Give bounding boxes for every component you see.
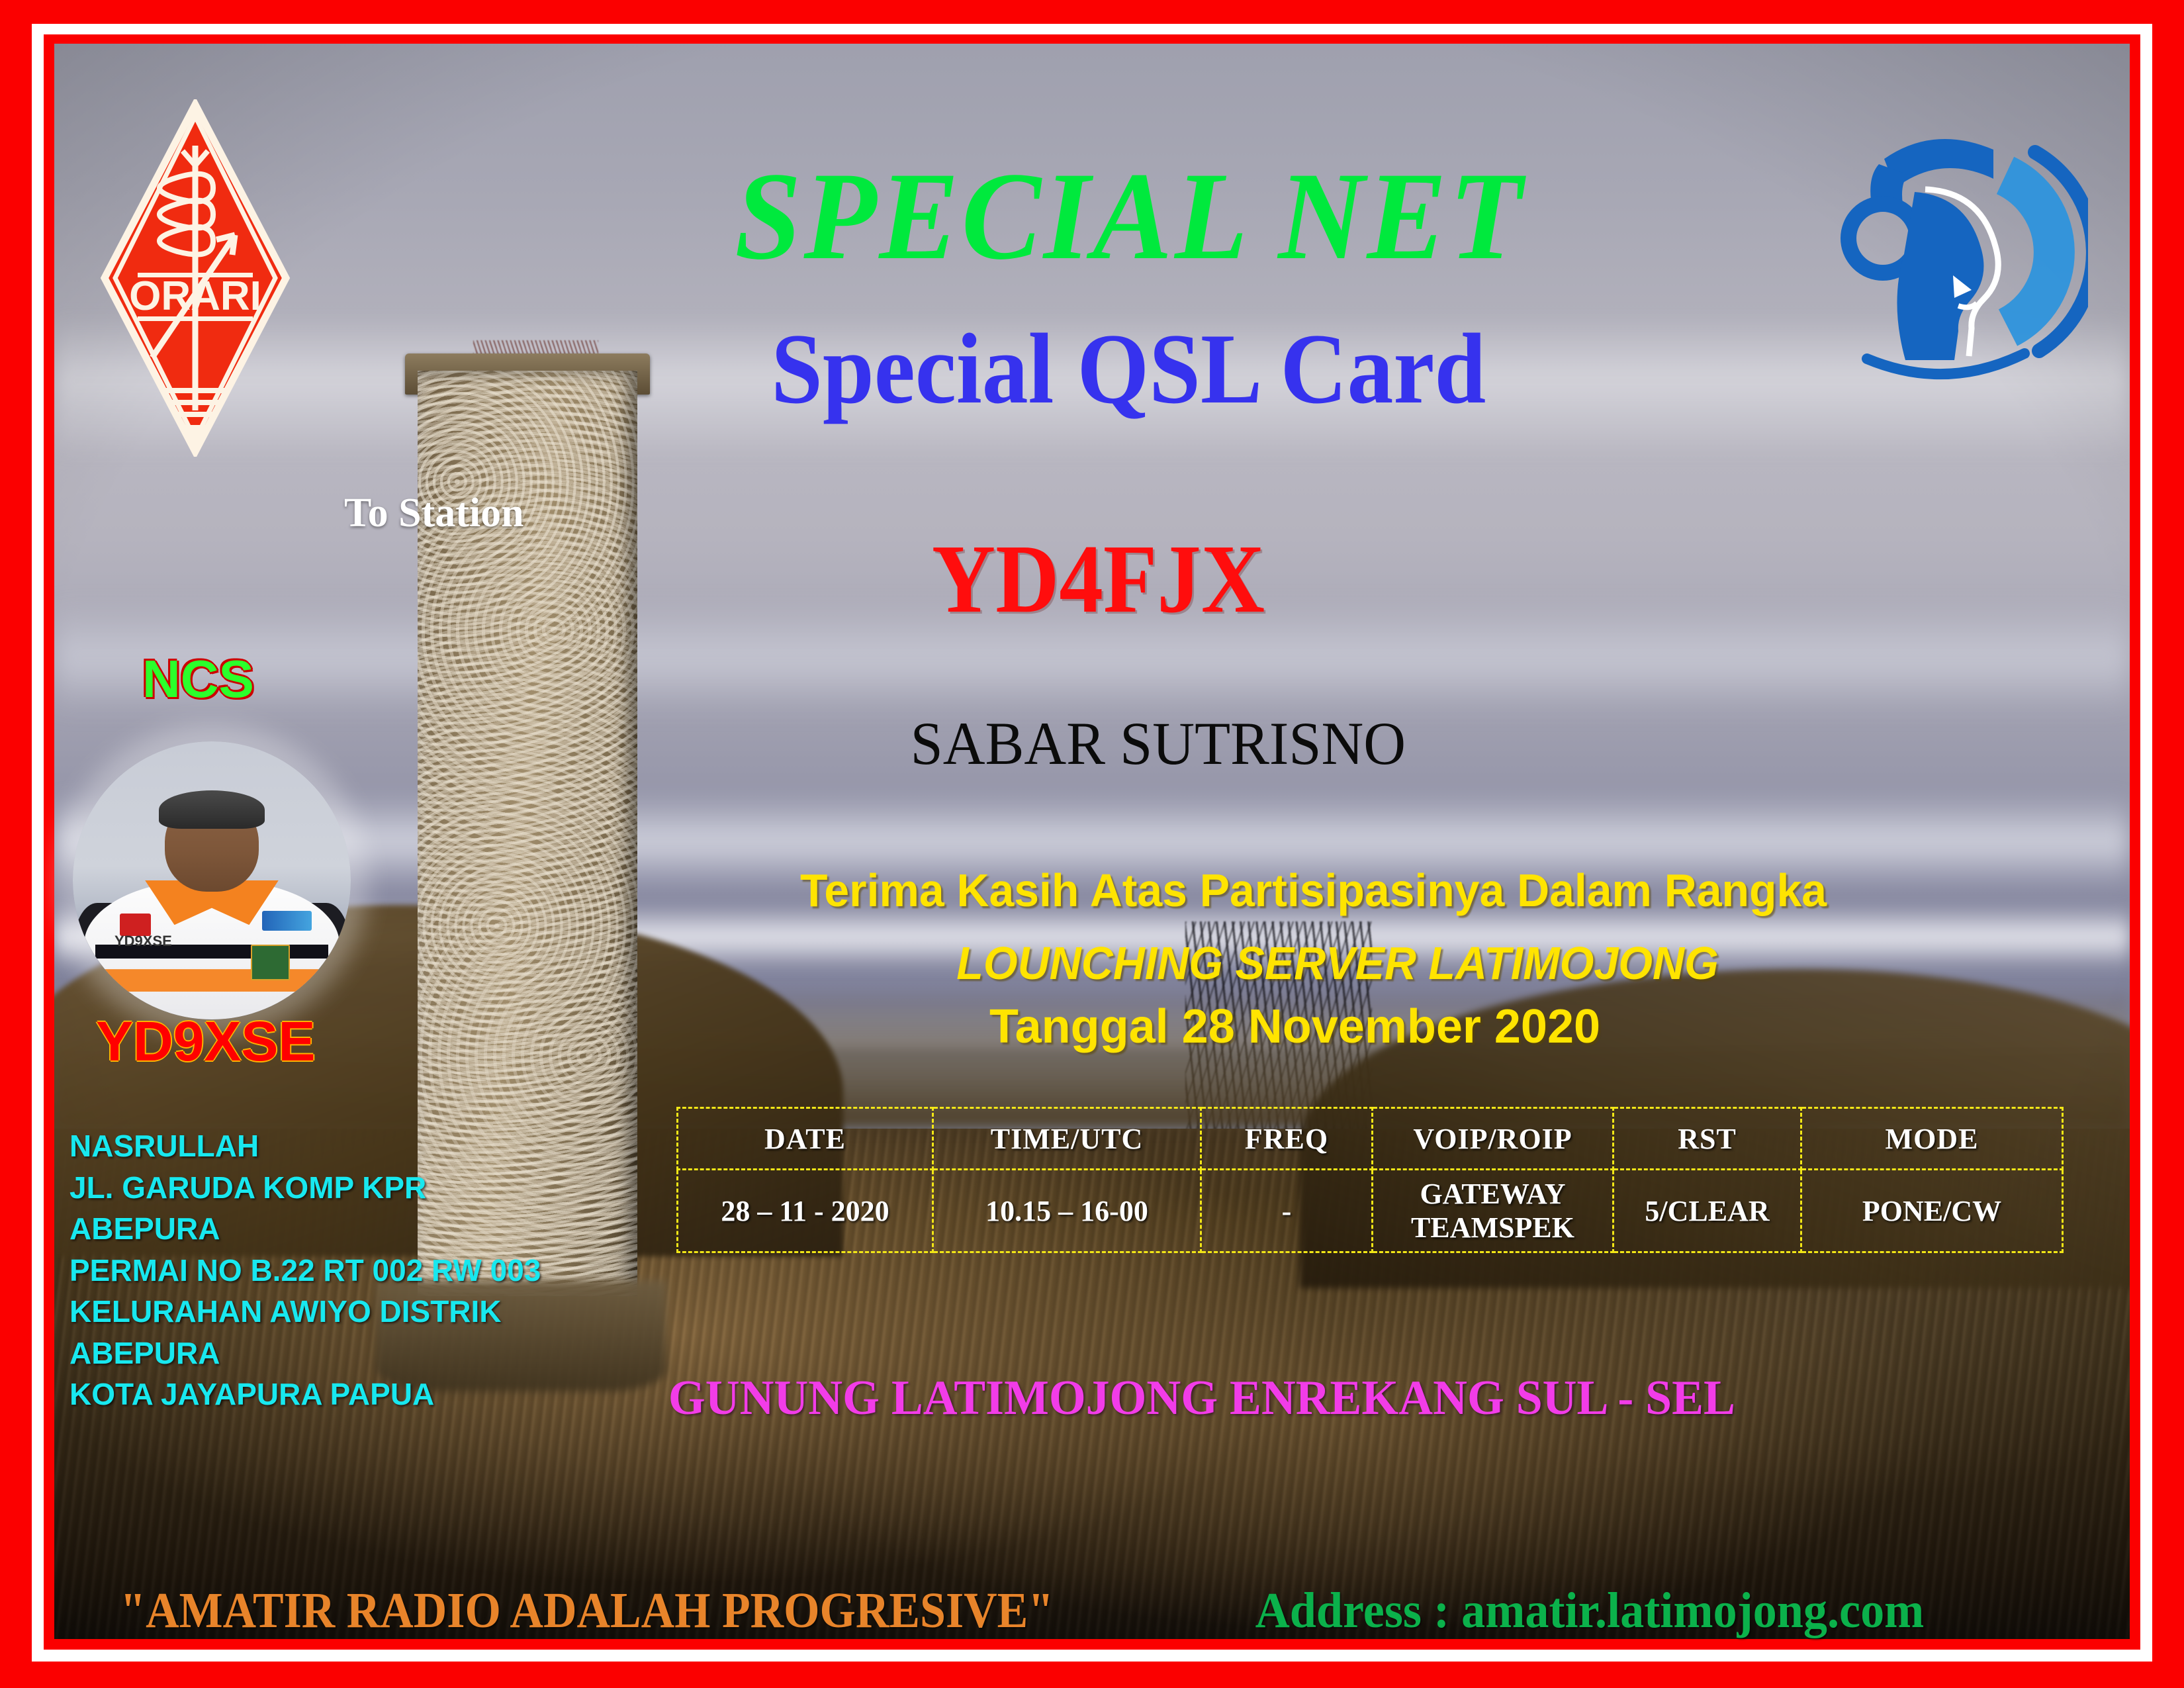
page-title: SPECIAL NET (55, 144, 2130, 289)
address-line: ABEPURA (69, 1208, 541, 1250)
table-row: 28 – 11 - 2020 10.15 – 16-00 - GATEWAY T… (678, 1170, 2063, 1252)
event-line: LOUNCHING SERVER LATIMOJONG (956, 937, 1718, 990)
table-cell-freq: - (1201, 1170, 1373, 1252)
table-header-date: DATE (678, 1108, 933, 1170)
ncs-callsign: YD9XSE (96, 1009, 316, 1074)
table-header-voip: VOIP/ROIP (1373, 1108, 1614, 1170)
station-callsign: YD4FJX (932, 523, 1265, 635)
location-line: GUNUNG LATIMOJONG ENREKANG SUL - SEL (668, 1370, 1735, 1427)
portrait-id-card (251, 945, 290, 980)
address-line: KELURAHAN AWIYO DISTRIK (69, 1291, 541, 1333)
table-cell-time: 10.15 – 16-00 (933, 1170, 1201, 1252)
table-cell-voip: GATEWAY TEAMSPEK (1373, 1170, 1614, 1252)
to-station-label: To Station (344, 490, 524, 537)
address-line: NASRULLAH (69, 1125, 541, 1167)
address-line: JL. GARUDA KOMP KPR (69, 1167, 541, 1209)
address-line: PERMAI NO B.22 RT 002 RW 003 (69, 1250, 541, 1291)
qso-log-table: DATE TIME/UTC FREQ VOIP/ROIP RST MODE 28… (676, 1107, 2064, 1253)
operator-name: SABAR SUTRISNO (911, 708, 1406, 778)
event-date-line: Tanggal 28 November 2020 (989, 1000, 1600, 1054)
page-subtitle: Special QSL Card (87, 311, 2097, 426)
motto-text: "AMATIR RADIO ADALAH PROGRESIVE" (120, 1582, 1054, 1640)
qsl-card: ORARI SPECIAL NET Special QSL Card To St… (0, 0, 2184, 1688)
portrait-chest-emblem (262, 911, 312, 930)
mailing-address: NASRULLAH JL. GARUDA KOMP KPR ABEPURA PE… (69, 1125, 541, 1415)
table-cell-mode: PONE/CW (1801, 1170, 2063, 1252)
ncs-operator-photo: YD9XSE (73, 741, 351, 1019)
table-header-row: DATE TIME/UTC FREQ VOIP/ROIP RST MODE (678, 1108, 2063, 1170)
table-cell-date: 28 – 11 - 2020 (678, 1170, 933, 1252)
table-header-time: TIME/UTC (933, 1108, 1201, 1170)
website-address: Address : amatir.latimojong.com (1255, 1582, 1925, 1640)
address-line: ABEPURA (69, 1333, 541, 1374)
table-header-rst: RST (1614, 1108, 1801, 1170)
table-cell-rst: 5/CLEAR (1614, 1170, 1801, 1252)
portrait-hair (159, 790, 265, 829)
table-header-freq: FREQ (1201, 1108, 1373, 1170)
thanks-line: Terima Kasih Atas Partisipasinya Dalam R… (800, 864, 1827, 917)
table-header-mode: MODE (1801, 1108, 2063, 1170)
portrait-uniform-callsign: YD9XSE (114, 933, 172, 950)
ncs-label: NCS (142, 649, 254, 710)
address-line: KOTA JAYAPURA PAPUA (69, 1374, 541, 1415)
